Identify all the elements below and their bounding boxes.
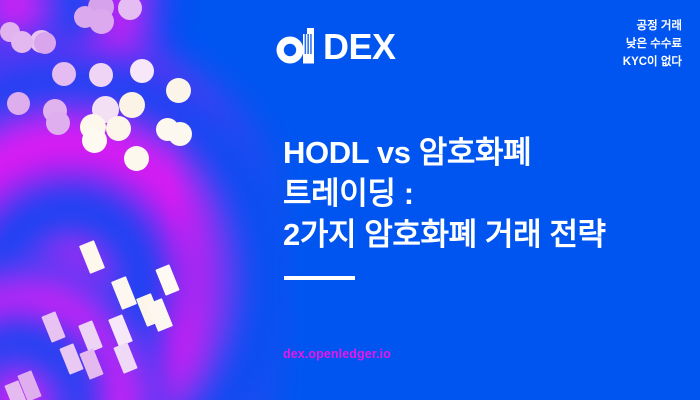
tagline-line-3: KYC이 없다 <box>623 54 682 72</box>
site-url[interactable]: dex.openledger.io <box>283 347 391 361</box>
oldex-logo[interactable]: DEX <box>276 28 396 66</box>
confetti-dot <box>88 0 114 20</box>
promo-banner: DEX 공정 거래 낮은 수수료 KYC이 없다 HODL vs 암호화폐 트레… <box>0 0 700 400</box>
confetti-rect <box>41 311 65 343</box>
confetti-dot <box>168 122 192 146</box>
confetti-dot <box>74 6 96 28</box>
confetti-dot <box>92 96 119 123</box>
confetti-rect <box>155 264 179 296</box>
confetti-dot <box>80 114 106 140</box>
oldex-o-l-monogram-icon <box>276 28 322 66</box>
confetti-dot <box>7 92 30 115</box>
confetti-rect <box>79 240 105 274</box>
tagline-line-2: 낮은 수수료 <box>623 36 682 54</box>
confetti-dot <box>11 31 33 53</box>
confetti-dot <box>30 30 53 53</box>
page-title: HODL vs 암호화폐 트레이딩 : 2가지 암호화폐 거래 전략 <box>283 133 606 256</box>
ring-cluster-bottom <box>0 250 170 400</box>
title-divider <box>284 276 355 280</box>
confetti-dot <box>89 63 113 87</box>
tagline-line-1: 공정 거래 <box>623 18 682 36</box>
tagline-block: 공정 거래 낮은 수수료 KYC이 없다 <box>623 18 682 71</box>
confetti-dot <box>106 116 131 141</box>
confetti-rect <box>113 342 137 374</box>
confetti-rect <box>147 298 173 332</box>
confetti-dot <box>119 92 145 118</box>
confetti-rect <box>4 380 28 400</box>
headline-line-2: 트레이딩 : <box>283 174 606 215</box>
confetti-dot <box>130 59 154 83</box>
confetti-dot <box>43 99 67 123</box>
confetti-dot <box>46 111 70 135</box>
confetti-dot <box>118 0 142 20</box>
confetti-rect <box>17 370 41 400</box>
confetti-rect <box>108 314 133 347</box>
confetti-rect <box>79 348 103 380</box>
confetti-rect <box>78 320 103 353</box>
confetti-dot <box>52 62 76 86</box>
headline-line-1: HODL vs 암호화폐 <box>283 133 606 174</box>
logo-wordmark: DEX <box>323 29 396 65</box>
headline-line-3: 2가지 암호화폐 거래 전략 <box>283 215 606 256</box>
confetti-rect <box>111 276 137 310</box>
confetti-dot <box>0 22 20 42</box>
confetti-rect <box>59 343 83 375</box>
confetti-dot <box>166 78 191 103</box>
confetti-dot <box>34 32 56 54</box>
confetti-rect <box>136 293 162 327</box>
confetti-dot <box>82 128 107 153</box>
confetti-dot <box>89 9 114 34</box>
confetti-dot <box>124 146 149 171</box>
confetti-dot <box>156 118 179 141</box>
ring-cluster-main <box>0 40 310 400</box>
ring-cluster-top <box>0 0 180 170</box>
